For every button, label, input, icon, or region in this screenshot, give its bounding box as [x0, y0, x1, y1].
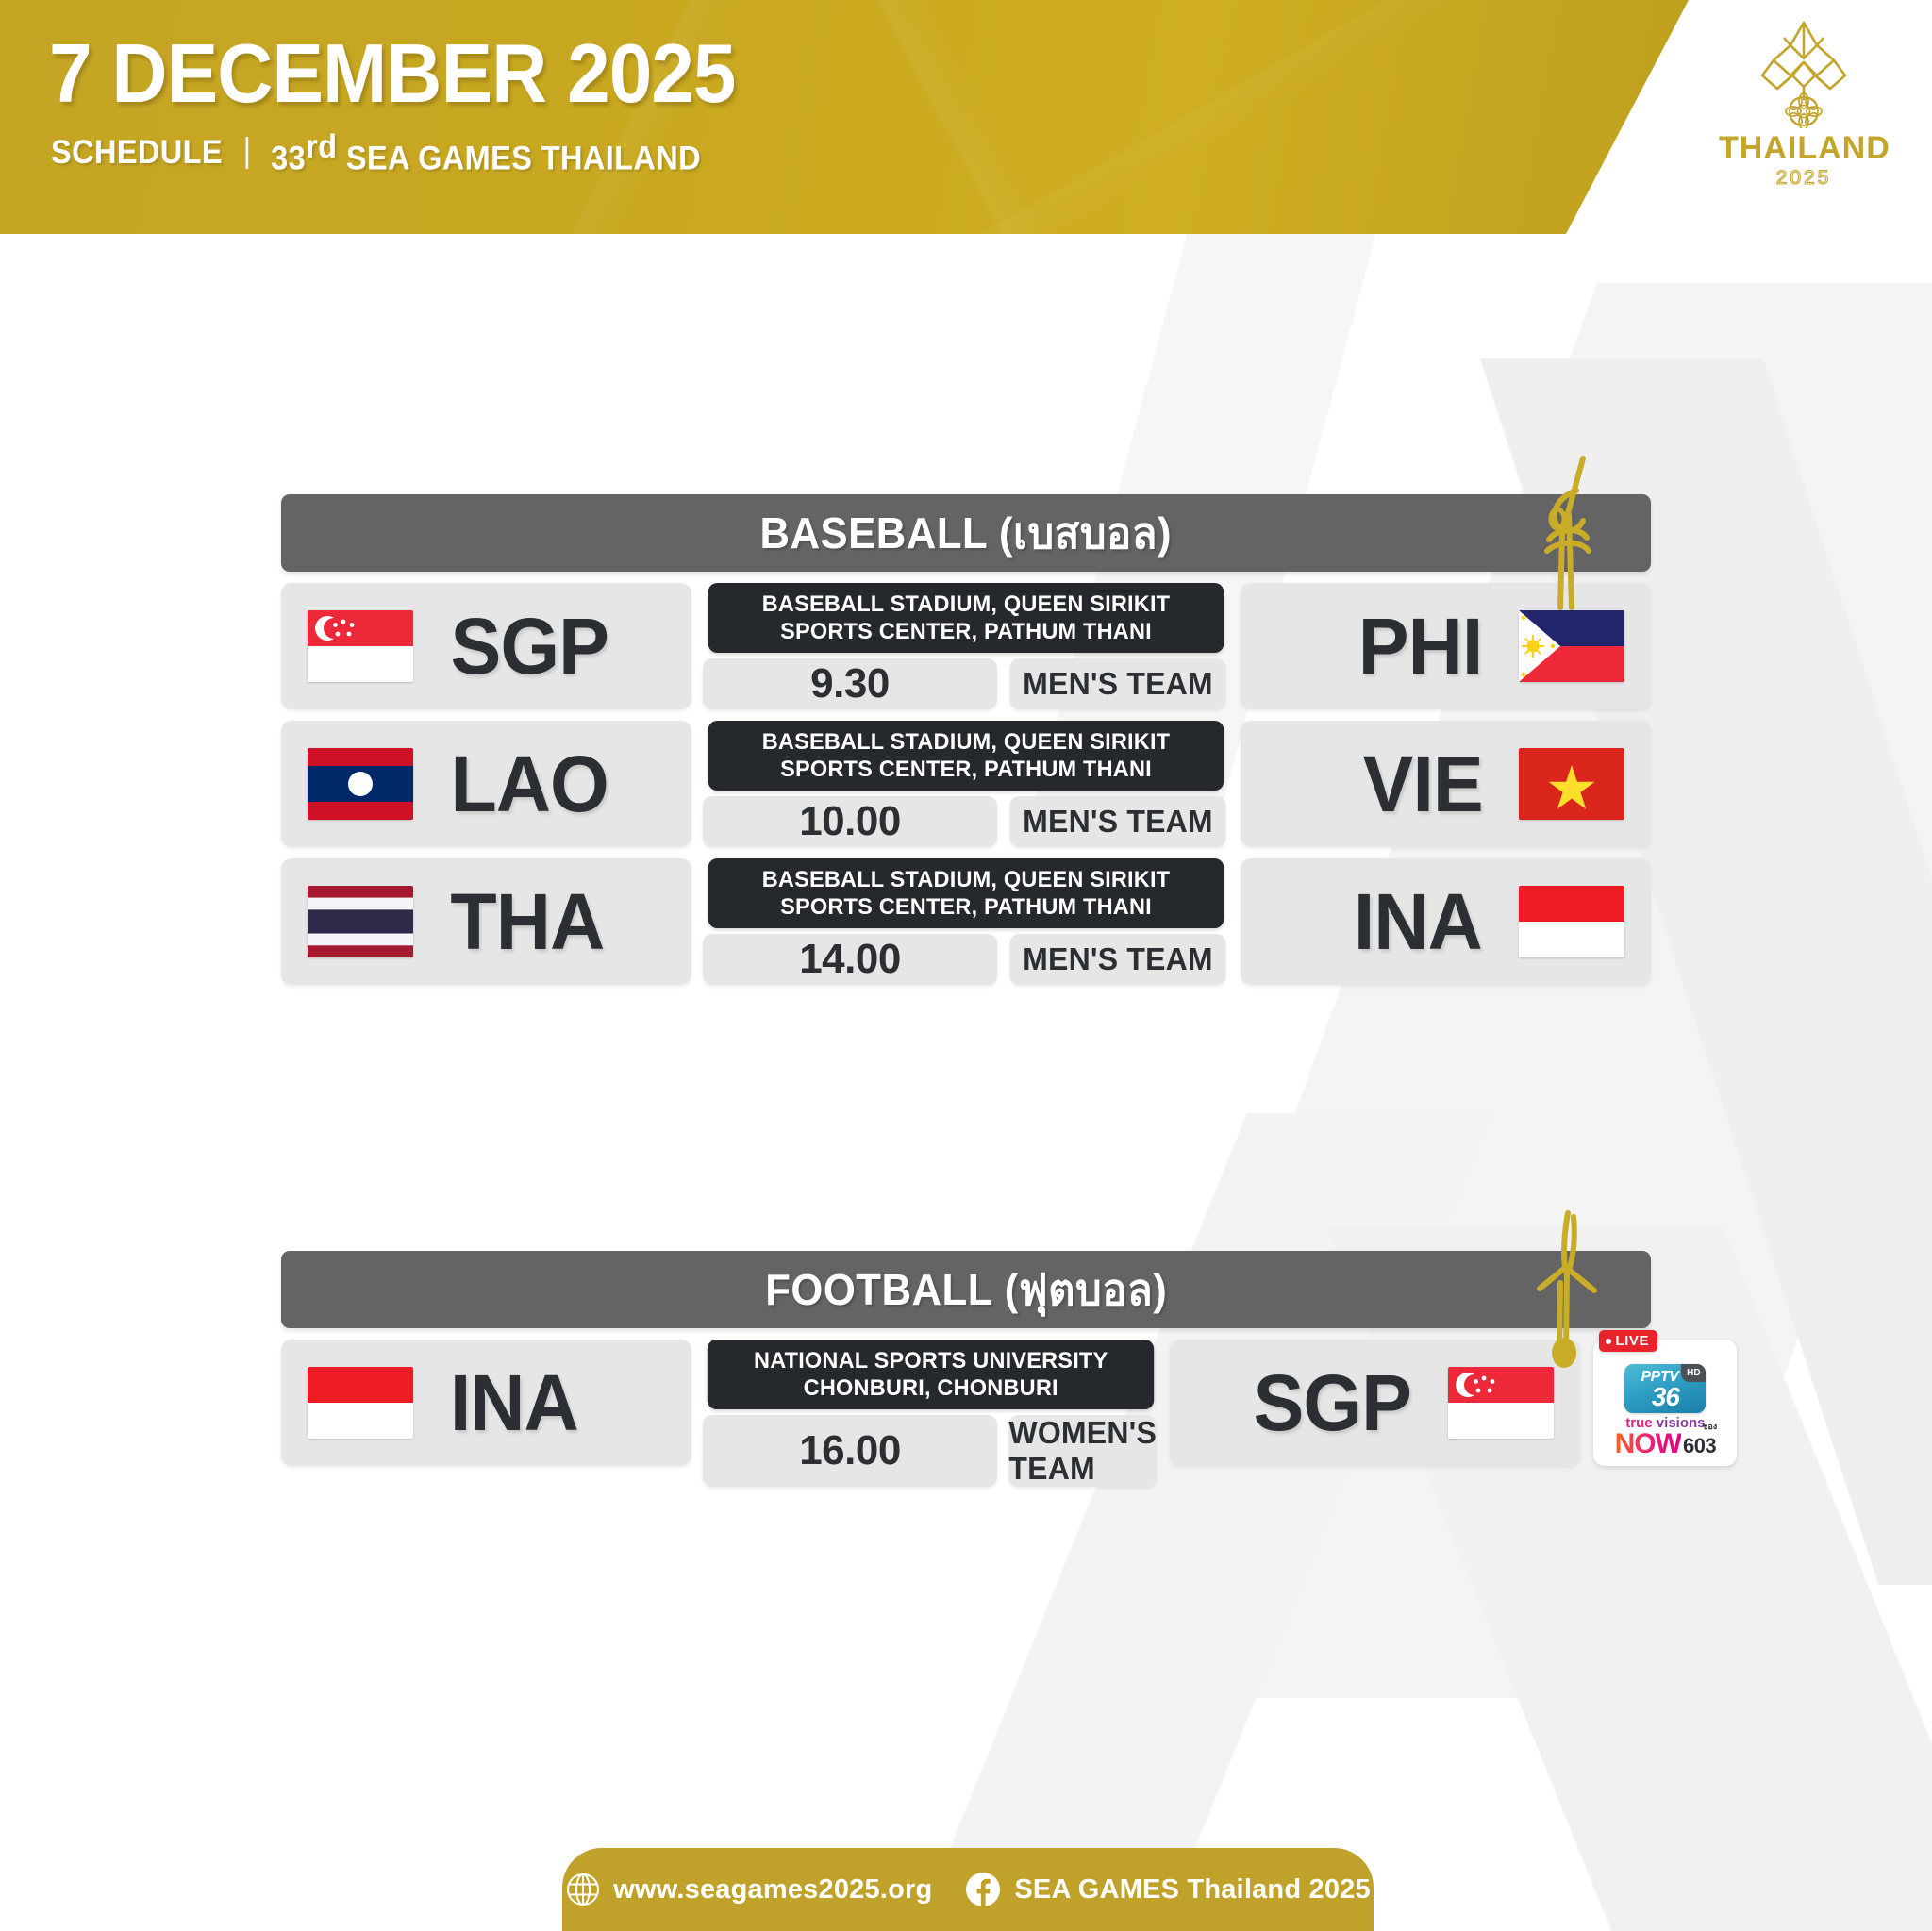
website-text: www.seagames2025.org [613, 1874, 932, 1906]
match-category: MEN'S TEAM [1010, 796, 1226, 847]
page-footer: www.seagames2025.org SEA GAMES Thailand … [562, 1848, 1374, 1931]
home-team: LAO [281, 721, 691, 847]
match-meta: 9.30 MEN'S TEAM [703, 658, 1229, 709]
logo-year: 2025 [1719, 167, 1889, 190]
team-code: SGP [1253, 1363, 1410, 1442]
sport-section-football: FOOTBALL (ฟุตบอล) [281, 1251, 1651, 1466]
venue-label: BASEBALL STADIUM, QUEEN SIRIKIT SPORTS C… [708, 858, 1224, 928]
chong-label: ช่อง [1702, 1420, 1717, 1433]
match-category: WOMEN'S TEAM [1008, 1415, 1157, 1487]
section-title: FOOTBALL (ฟุตบอล) [765, 1256, 1167, 1324]
baseball-pictogram-icon [1524, 453, 1606, 613]
globe-icon [565, 1872, 601, 1907]
home-team: INA [281, 1340, 691, 1466]
venue-label: BASEBALL STADIUM, QUEEN SIRIKIT SPORTS C… [708, 583, 1224, 653]
away-team: VIE [1241, 721, 1651, 847]
indonesia-flag-icon [1519, 886, 1624, 957]
team-code: THA [450, 882, 604, 961]
match-row[interactable]: LAO BASEBALL STADIUM, QUEEN SIRIKIT SPOR… [281, 721, 1651, 847]
schedule-content: BASEBALL (เบสบอล) [0, 0, 1932, 1931]
match-category: MEN'S TEAM [1010, 934, 1226, 985]
match-time: 14.00 [703, 934, 997, 985]
sport-section-baseball: BASEBALL (เบสบอล) [281, 494, 1651, 985]
broadcast-badge[interactable]: LIVE HD PPTV 36 true visions NOW 603 ช่อ… [1593, 1340, 1737, 1466]
team-code: INA [450, 1363, 578, 1442]
thai-ornament-icon [1719, 17, 1889, 128]
vietnam-flag-icon [1519, 748, 1624, 820]
games-edition: 33rd SEA GAMES THAILAND [271, 128, 701, 178]
match-details: BASEBALL STADIUM, QUEEN SIRIKIT SPORTS C… [703, 858, 1229, 985]
venue-label: NATIONAL SPORTS UNIVERSITY CHONBURI, CHO… [708, 1340, 1155, 1409]
indonesia-flag-icon [308, 1367, 413, 1439]
logo-wordmark: THAILAND [1719, 132, 1889, 164]
match-details: NATIONAL SPORTS UNIVERSITY CHONBURI, CHO… [703, 1340, 1158, 1466]
team-code: INA [1354, 882, 1482, 961]
website-link[interactable]: www.seagames2025.org [565, 1872, 932, 1907]
facebook-link[interactable]: SEA GAMES Thailand 2025 [964, 1871, 1370, 1908]
facebook-text: SEA GAMES Thailand 2025 [1014, 1874, 1370, 1906]
pptv-channel-logo: HD PPTV 36 [1624, 1364, 1706, 1413]
away-team: SGP [1170, 1340, 1580, 1466]
now-wordmark: NOW [1615, 1430, 1681, 1458]
now-channel-number: 603 [1683, 1434, 1716, 1458]
match-meta: 14.00 MEN'S TEAM [703, 934, 1229, 985]
games-ordinal: rd [306, 128, 337, 165]
match-meta: 16.00 WOMEN'S TEAM [703, 1415, 1158, 1487]
venue-label: BASEBALL STADIUM, QUEEN SIRIKIT SPORTS C… [708, 721, 1224, 791]
team-code: SGP [450, 607, 608, 686]
match-meta: 10.00 MEN'S TEAM [703, 796, 1229, 847]
section-title: BASEBALL (เบสบอล) [760, 499, 1173, 568]
match-details: BASEBALL STADIUM, QUEEN SIRIKIT SPORTS C… [703, 721, 1229, 847]
singapore-flag-icon [1448, 1367, 1554, 1439]
games-number: 33 [271, 141, 306, 177]
live-label: LIVE [1615, 1333, 1649, 1349]
team-code: PHI [1358, 607, 1483, 686]
schedule-label: SCHEDULE [51, 134, 223, 172]
singapore-flag-icon [308, 610, 413, 682]
header-divider [245, 137, 248, 169]
facebook-icon [964, 1871, 1002, 1908]
match-row[interactable]: THA BASEBALL STADIUM, QUEEN SIRIKIT SPOR… [281, 858, 1651, 985]
thailand-2025-logo: THAILAND 2025 [1719, 17, 1889, 196]
home-team: SGP [281, 583, 691, 709]
live-badge: LIVE [1599, 1330, 1657, 1352]
now-channel-line: NOW 603 ช่อง [1615, 1430, 1717, 1458]
match-time: 9.30 [703, 658, 997, 709]
header-subtitle: SCHEDULE 33rd SEA GAMES THAILAND [51, 128, 701, 178]
philippines-flag-icon [1519, 610, 1624, 682]
match-details: BASEBALL STADIUM, QUEEN SIRIKIT SPORTS C… [703, 583, 1229, 709]
away-team: INA [1241, 858, 1651, 985]
match-row[interactable]: SGP BASEBALL STADIUM, QUEEN SIRIKIT SPOR… [281, 583, 1651, 709]
match-time: 10.00 [703, 796, 997, 847]
pptv-channel-number: 36 [1652, 1385, 1679, 1408]
page-title: 7 DECEMBER 2025 [49, 32, 735, 115]
team-code: LAO [450, 744, 608, 824]
match-category: MEN'S TEAM [1010, 658, 1226, 709]
games-name: SEA GAMES THAILAND [337, 141, 701, 177]
hd-badge: HD [1681, 1364, 1706, 1382]
home-team: THA [281, 858, 691, 985]
laos-flag-icon [308, 748, 413, 820]
team-code: VIE [1362, 744, 1482, 824]
match-time: 16.00 [703, 1415, 997, 1487]
live-dot-icon [1606, 1339, 1611, 1344]
page-header: 7 DECEMBER 2025 SCHEDULE 33rd SEA GAMES … [0, 0, 1932, 234]
section-header-football: FOOTBALL (ฟุตบอล) [281, 1251, 1651, 1328]
thailand-flag-icon [308, 886, 413, 957]
match-row[interactable]: INA NATIONAL SPORTS UNIVERSITY CHONBURI,… [281, 1340, 1651, 1466]
section-header-baseball: BASEBALL (เบสบอล) [281, 494, 1651, 572]
